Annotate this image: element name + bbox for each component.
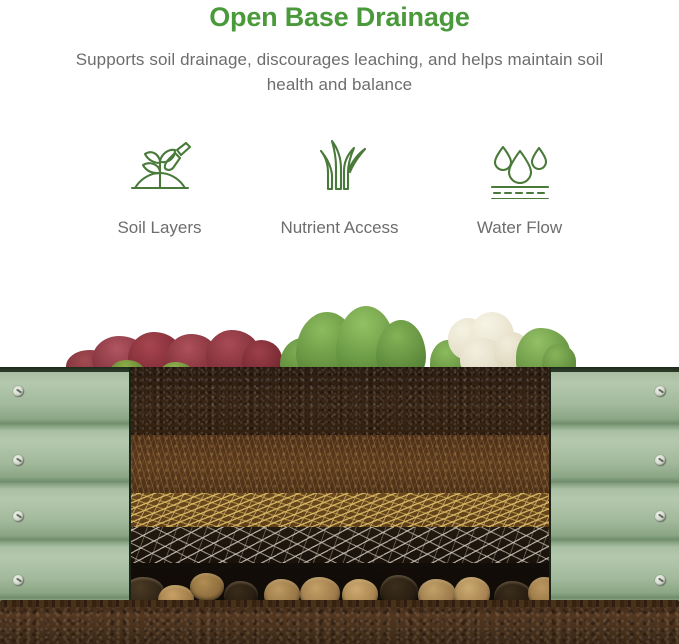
feature-label: Water Flow [430, 215, 610, 240]
panel-screw [655, 455, 666, 466]
water-droplets-icon [430, 137, 610, 199]
panel-screw [13, 575, 24, 586]
header: Open Base Drainage Supports soil drainag… [0, 0, 679, 97]
product-feature-graphic: Open Base Drainage Supports soil drainag… [0, 0, 679, 644]
panel-screw [13, 386, 24, 397]
soil-layer-compost-mulch [128, 435, 550, 493]
feature-item-water-flow: Water Flow [430, 137, 610, 240]
panel-screw [655, 511, 666, 522]
page-title: Open Base Drainage [0, 0, 679, 34]
raised-garden-bed-cross-section [0, 286, 679, 644]
soil-layer-topsoil [128, 367, 550, 435]
panel-screw [13, 511, 24, 522]
feature-item-nutrient-access: Nutrient Access [250, 137, 430, 240]
feature-label: Soil Layers [70, 215, 250, 240]
plant-shovel-icon [70, 137, 250, 199]
native-ground-soil [0, 603, 679, 644]
feature-list: Soil Layers Nutrient Access [0, 137, 679, 240]
page-subtitle: Supports soil drainage, discourages leac… [60, 47, 620, 97]
feature-label: Nutrient Access [250, 215, 430, 240]
feature-item-soil-layers: Soil Layers [70, 137, 250, 240]
panel-screw [13, 455, 24, 466]
panel-screw [655, 575, 666, 586]
panel-screw [655, 386, 666, 397]
grass-blades-icon [250, 137, 430, 199]
